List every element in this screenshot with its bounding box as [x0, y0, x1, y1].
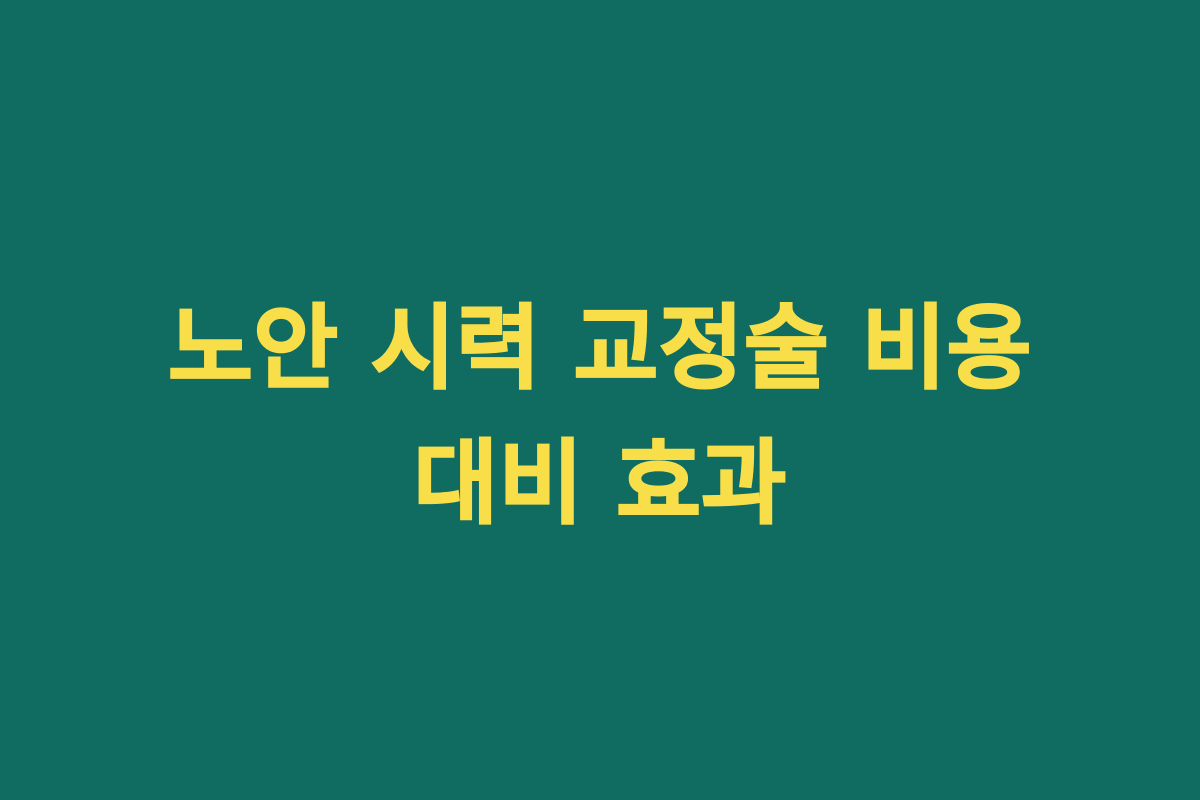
headline-line-2: 대비 효과: [0, 416, 1200, 551]
headline-line-1: 노안 시력 교정술 비용: [0, 281, 1200, 416]
headline-block: 노안 시력 교정술 비용 대비 효과: [0, 281, 1200, 551]
title-banner: 노안 시력 교정술 비용 대비 효과: [0, 0, 1200, 800]
